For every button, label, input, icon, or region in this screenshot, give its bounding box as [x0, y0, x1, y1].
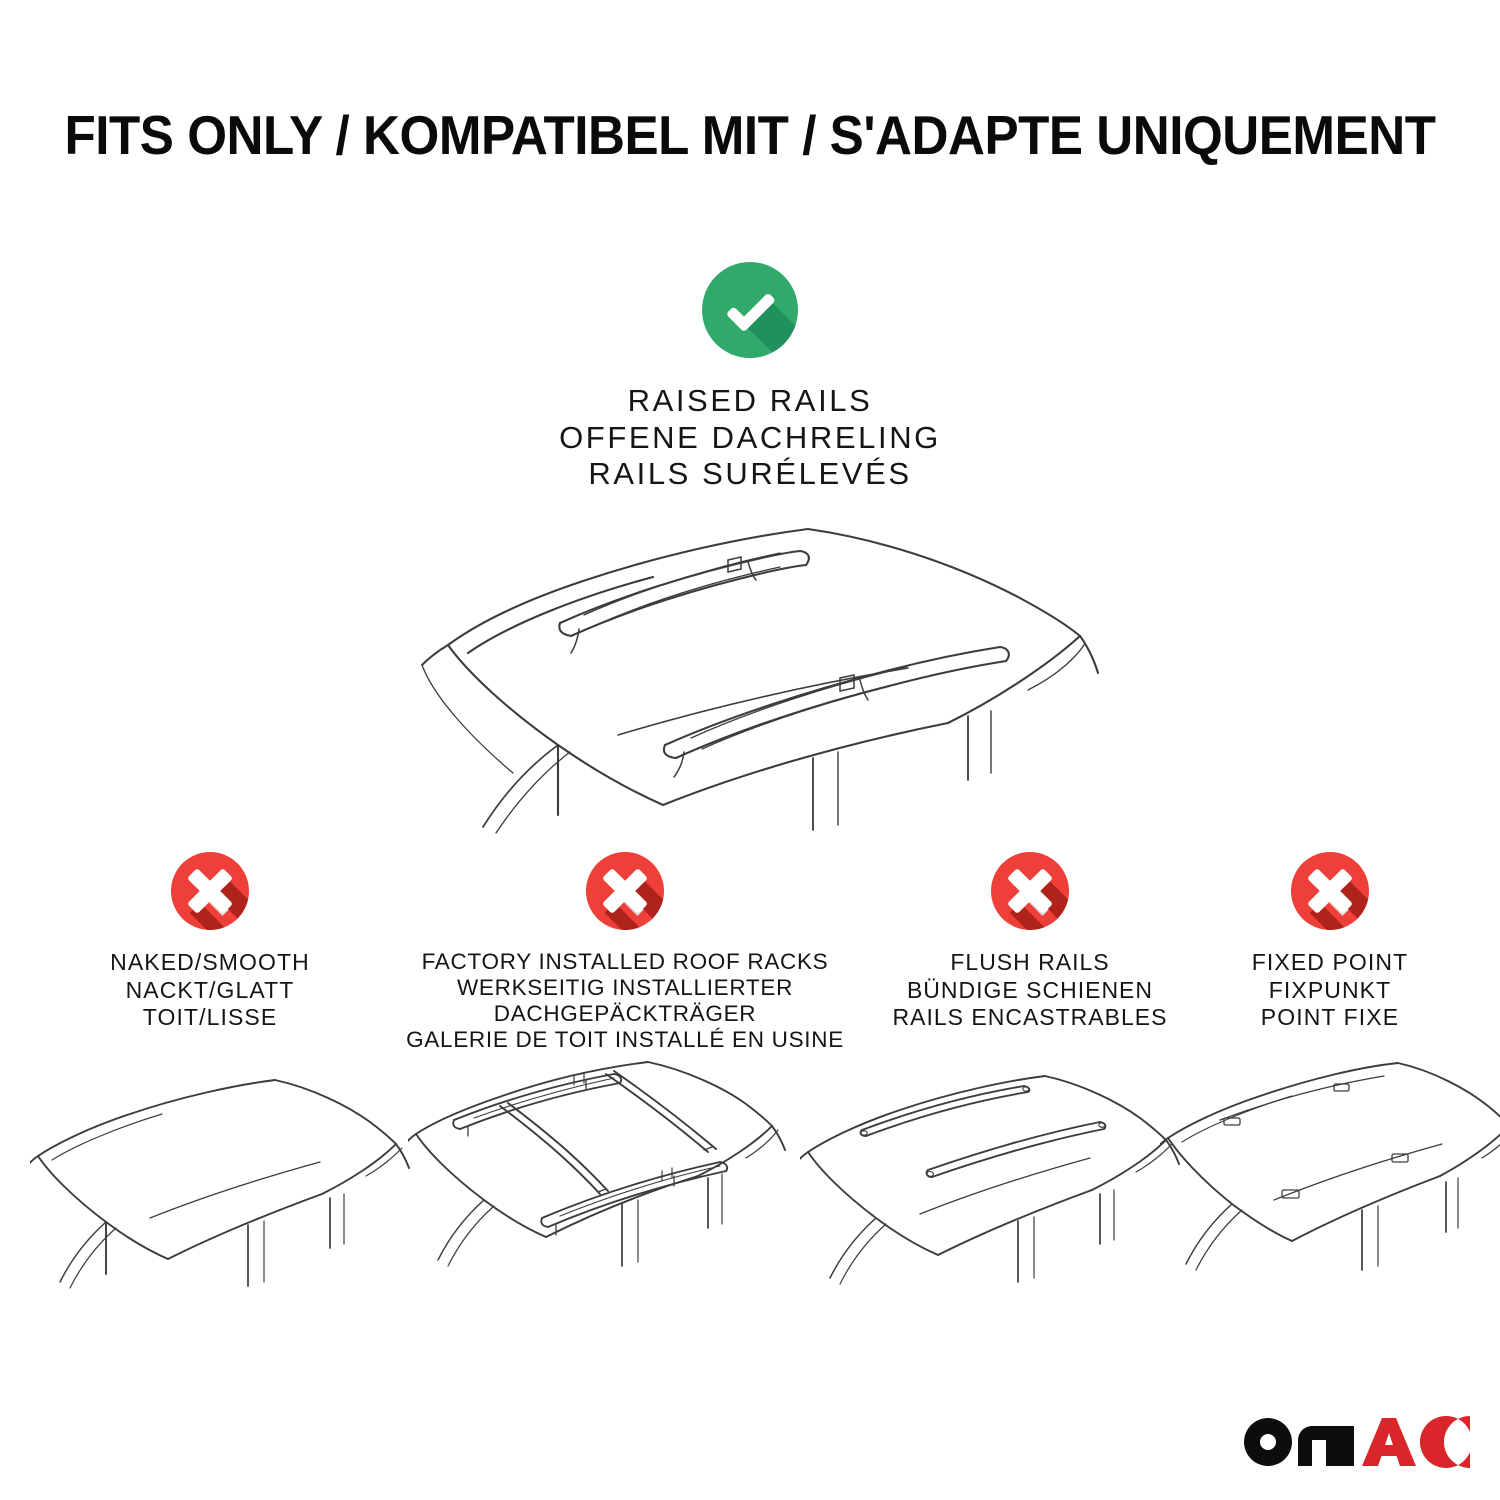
- incompatible-label-fixed-point: FIXED POINT FIXPUNKT POINT FIXE: [1202, 949, 1458, 1032]
- label-line-en: FIXED POINT: [1202, 949, 1458, 977]
- label-line-de-1: WERKSEITIG INSTALLIERTER: [392, 975, 858, 1001]
- label-line-fr: GALERIE DE TOIT INSTALLÉ EN USINE: [392, 1027, 858, 1053]
- label-line-fr: RAILS ENCASTRABLES: [858, 1004, 1202, 1032]
- label-line-fr: POINT FIXE: [1202, 1004, 1458, 1032]
- car-roof-naked-smooth-illustration: [30, 1058, 410, 1298]
- label-line-en: NAKED/SMOOTH: [30, 949, 390, 977]
- incompatible-section: NAKED/SMOOTH NACKT/GLATT TOIT/LISSE FACT…: [0, 852, 1500, 1092]
- compatible-label-line-de: OFFENE DACHRELING: [0, 420, 1500, 457]
- check-circle-icon: [702, 262, 798, 358]
- label-line-fr: TOIT/LISSE: [30, 1004, 390, 1032]
- x-circle-icon: [171, 852, 249, 930]
- compatible-section: RAISED RAILS OFFENE DACHRELING RAILS SUR…: [0, 262, 1500, 493]
- x-circle-icon: [1291, 852, 1369, 930]
- car-roof-fixed-point-illustration: [1160, 1058, 1500, 1298]
- incompatible-item-naked-smooth: NAKED/SMOOTH NACKT/GLATT TOIT/LISSE: [30, 852, 390, 1032]
- label-line-de: FIXPUNKT: [1202, 977, 1458, 1005]
- logo-letter-c: [1420, 1416, 1472, 1468]
- incompatible-item-factory-racks: FACTORY INSTALLED ROOF RACKS WERKSEITIG …: [392, 852, 858, 1053]
- label-line-de: NACKT/GLATT: [30, 977, 390, 1005]
- car-roof-flush-rails-illustration: [800, 1058, 1180, 1298]
- label-line-en: FLUSH RAILS: [858, 949, 1202, 977]
- page-title: FITS ONLY / KOMPATIBEL MIT / S'ADAPTE UN…: [53, 104, 1448, 166]
- omac-logo: [1236, 1410, 1474, 1474]
- compatible-label-line-en: RAISED RAILS: [0, 383, 1500, 420]
- incompatible-item-fixed-point: FIXED POINT FIXPUNKT POINT FIXE: [1202, 852, 1458, 1032]
- label-line-de: BÜNDIGE SCHIENEN: [858, 977, 1202, 1005]
- compatible-label-line-fr: RAILS SURÉLEVÉS: [0, 456, 1500, 493]
- car-roof-factory-racks-illustration: [408, 1058, 788, 1298]
- logo-letter-o: [1244, 1418, 1292, 1466]
- incompatible-label-factory-racks: FACTORY INSTALLED ROOF RACKS WERKSEITIG …: [392, 949, 858, 1053]
- incompatible-label-flush-rails: FLUSH RAILS BÜNDIGE SCHIENEN RAILS ENCAS…: [858, 949, 1202, 1032]
- label-line-de-2: DACHGEPÄCKTRÄGER: [392, 1001, 858, 1027]
- car-roof-raised-rails-illustration: [408, 505, 1108, 835]
- incompatible-item-flush-rails: FLUSH RAILS BÜNDIGE SCHIENEN RAILS ENCAS…: [858, 852, 1202, 1032]
- x-circle-icon: [991, 852, 1069, 930]
- label-line-en: FACTORY INSTALLED ROOF RACKS: [392, 949, 858, 975]
- logo-letter-a: [1362, 1418, 1416, 1466]
- incompatible-label-naked-smooth: NAKED/SMOOTH NACKT/GLATT TOIT/LISSE: [30, 949, 390, 1032]
- compatible-label: RAISED RAILS OFFENE DACHRELING RAILS SUR…: [0, 383, 1500, 493]
- logo-letter-m: [1298, 1426, 1354, 1466]
- x-circle-icon: [586, 852, 664, 930]
